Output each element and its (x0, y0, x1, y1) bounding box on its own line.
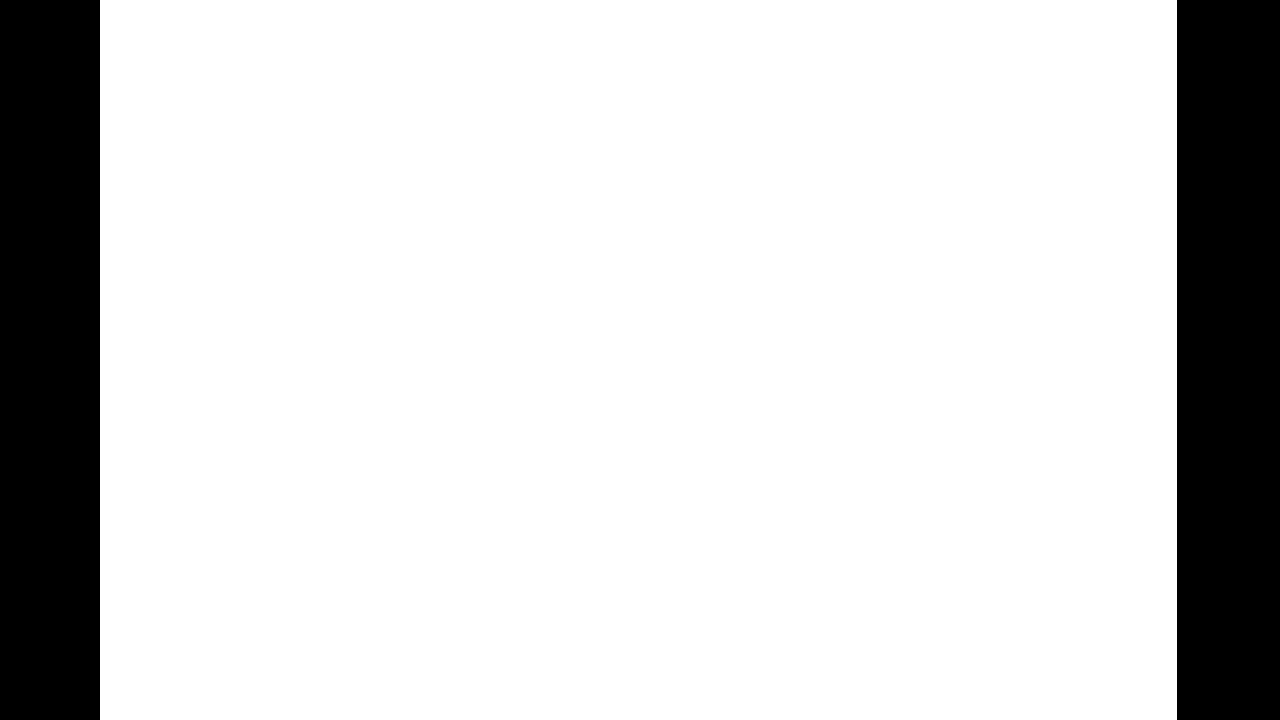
letterbox-bar-right (1177, 0, 1280, 720)
content-canvas (100, 0, 1177, 720)
letterbox-bar-left (0, 0, 100, 720)
thumbnail-stage: Maka Gallinger Warns It’s Time To Huli (… (0, 0, 1280, 720)
